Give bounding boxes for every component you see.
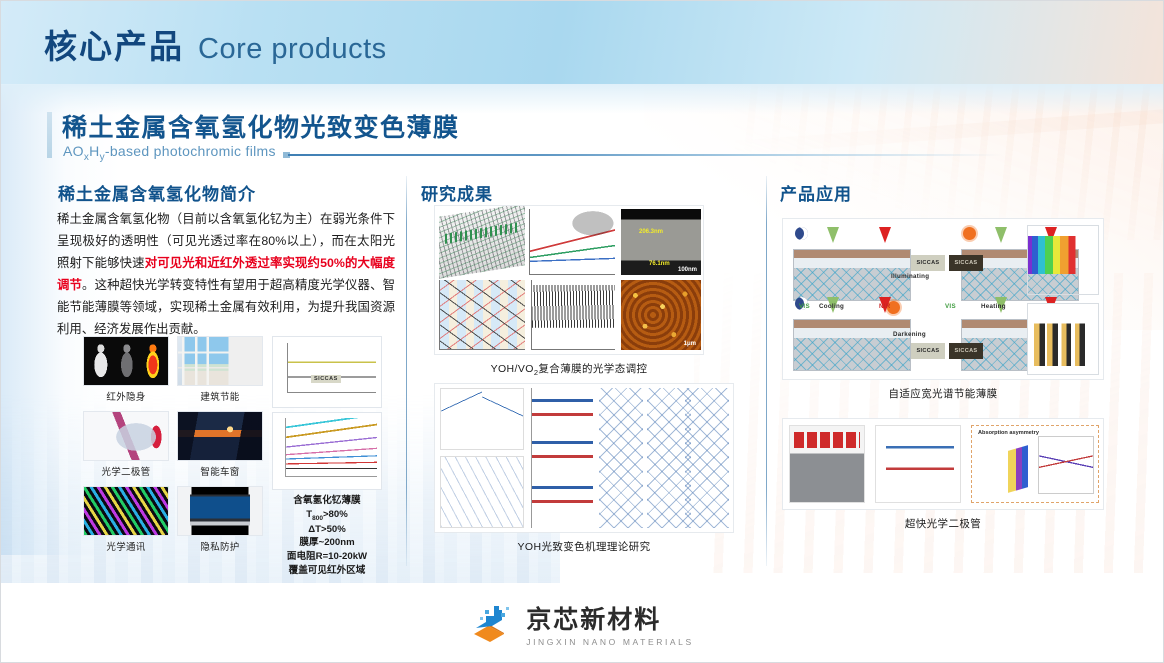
optical-diode-image	[83, 411, 169, 461]
spec-coverage: 覆盖可见红外区域	[272, 564, 382, 578]
research-figure-2-image	[434, 383, 734, 533]
research-figure-1-image: 206.3nm 76.1nm	[434, 205, 704, 355]
right-column-heading: 产品应用	[780, 180, 852, 205]
paragraph-part-2: 。这种超快光学转变特性有望用于超高精度光学仪器、智能节能薄膜等领域，实现稀土金属…	[57, 278, 395, 336]
film-stack-diagram-3	[793, 319, 911, 371]
application-figure-1[interactable]: SICCAS SICCAS SICCAS SICCAS Illuminating…	[782, 218, 1104, 401]
spec-transmittance: T800>80%	[272, 508, 382, 523]
formula-h: H	[89, 143, 99, 159]
application-figure-1-caption: 自适应宽光谱节能薄膜	[782, 380, 1104, 401]
column-divider-left	[406, 176, 407, 566]
research-figure-2[interactable]: YOH光致变色机理理论研究	[434, 383, 734, 554]
hydrogen-diffusion-diagram	[440, 456, 524, 528]
md-snapshot-1	[599, 388, 643, 528]
md-snapshot-3	[685, 388, 729, 528]
section-title-en: AOxHy-based photochromic films	[63, 143, 276, 163]
gallery-item[interactable]: 光学通讯	[83, 486, 169, 559]
green-arrow-down-icon	[995, 227, 1007, 243]
left-column-paragraph: 稀土金属含氧氢化物（目前以含氧氢化钇为主）在弱光条件下呈现极好的透明性（可见光透…	[57, 208, 395, 340]
brand-footer: 京芯新材料 JINGXIN NANO MATERIALS	[0, 600, 1164, 647]
siccas-watermark-label: SICCAS	[311, 375, 341, 383]
research-figure-1[interactable]: 206.3nm 76.1nm YOH/VO2复合薄膜的光学态调控	[434, 205, 704, 377]
brand-name-en: JINGXIN NANO MATERIALS	[526, 637, 694, 647]
brand-text-group: 京芯新材料 JINGXIN NANO MATERIALS	[526, 600, 694, 647]
sun-icon	[963, 227, 976, 240]
gallery-item[interactable]: 隐私防护	[177, 486, 263, 559]
asymmetry-slab-icon	[1008, 445, 1028, 493]
md-energy-traces-plot	[531, 388, 593, 528]
cooling-label: Cooling	[819, 303, 844, 310]
asymmetry-spectrum-chart	[1038, 436, 1094, 494]
cycling-modulation-plot	[439, 280, 525, 350]
header-title-en: Core products	[198, 33, 387, 66]
thickness-series-chart	[272, 412, 382, 490]
header-title-group: 核心产品 Core products	[44, 20, 387, 68]
application-figure-2[interactable]: Absorption asymmetry 超快光学二极管	[782, 418, 1104, 531]
siccas-tile-dark-1: SICCAS	[949, 255, 983, 271]
header-title-cn: 核心产品	[44, 20, 184, 68]
gallery-item-caption: 光学通讯	[83, 536, 169, 559]
gallery-item-caption: 光学二极管	[83, 461, 169, 484]
green-arrow-down-icon	[827, 227, 839, 243]
privacy-screen-image	[177, 486, 263, 536]
spec-t-value: >80%	[323, 509, 348, 520]
gallery-row: 光学二极管 智能车窗	[83, 411, 263, 484]
gallery-row: 光学通讯 隐私防护	[83, 486, 263, 559]
smart-window-image	[177, 411, 263, 461]
gallery-row: 红外隐身 建筑节能	[83, 336, 263, 409]
gallery-item[interactable]: 光学二极管	[83, 411, 169, 484]
illuminating-label: Illuminating	[891, 273, 929, 280]
pump-probe-trace-plot	[875, 425, 961, 503]
left-column-heading: 稀土金属含氧氢化物简介	[58, 180, 256, 205]
red-arrow-down-icon	[879, 227, 891, 243]
sem-thickness-label-2: 76.1nm	[649, 261, 670, 267]
vis-label: VIS	[945, 303, 956, 310]
transmittance-spectrum-chart: SICCAS	[272, 336, 382, 408]
sem-thickness-label-1: 206.3nm	[639, 229, 663, 235]
research-figure-1-caption: YOH/VO2复合薄膜的光学态调控	[434, 355, 704, 377]
siccas-tile-clear-2: SICCAS	[911, 343, 945, 359]
darkening-label: Darkening	[893, 331, 926, 338]
caption-pre: YOH/VO	[491, 363, 534, 375]
heating-label: Heating	[981, 303, 1006, 310]
modulation-bar-chart	[1027, 303, 1099, 375]
application-figure-2-caption: 超快光学二极管	[782, 510, 1104, 531]
formula-a-o: AO	[63, 143, 84, 159]
nir-label: NIR	[879, 303, 891, 310]
repeatability-oscillation-plot	[531, 280, 615, 350]
gallery-item[interactable]: 红外隐身	[83, 336, 169, 409]
section-accent-bar	[47, 112, 52, 158]
optical-setup-photo	[789, 425, 865, 503]
spec-list: 含氧氢化钇薄膜 T800>80% ΔT>50% 膜厚~200nm 面电阻R=10…	[272, 494, 382, 577]
application-gallery: 红外隐身 建筑节能 光学二极管 智能车窗 光学通讯	[83, 336, 263, 561]
solar-spectrum-chart	[1027, 225, 1099, 295]
moon-icon	[795, 227, 808, 240]
application-figure-2-image: Absorption asymmetry	[782, 418, 1104, 510]
middle-column-heading: 研究成果	[421, 180, 493, 205]
sem-cross-section-image: 206.3nm 76.1nm	[621, 209, 701, 275]
absorption-asymmetry-diagram: Absorption asymmetry	[971, 425, 1099, 503]
spec-panel: SICCAS 含氧氢化钇薄膜 T800>80% ΔT>50% 膜厚~200nm …	[272, 336, 382, 577]
siccas-tile-clear-1: SICCAS	[911, 255, 945, 271]
section-rule	[288, 154, 1003, 156]
slide: 核心产品 Core products 稀土金属含氧氢化物光致变色薄膜 AOxHy…	[0, 0, 1164, 663]
research-figure-2-caption: YOH光致变色机理理论研究	[434, 533, 734, 554]
section-title-cn: 稀土金属含氧氢化物光致变色薄膜	[62, 108, 460, 144]
absorption-asymmetry-label: Absorption asymmetry	[978, 430, 1039, 436]
spec-title: 含氧氢化钇薄膜	[272, 494, 382, 508]
energy-gap-panels	[440, 388, 524, 450]
application-figure-1-image: SICCAS SICCAS SICCAS SICCAS Illuminating…	[782, 218, 1104, 380]
spec-sheet-resistance: 面电阻R=10-20kW	[272, 550, 382, 564]
gallery-item-caption: 建筑节能	[177, 386, 263, 409]
slide-header: 核心产品 Core products	[0, 0, 1164, 84]
afm-surface-image	[621, 280, 701, 350]
transmittance-curves-plot	[529, 209, 615, 275]
brand-name-cn: 京芯新材料	[526, 600, 694, 636]
caption-post: 复合薄膜的光学态调控	[538, 363, 647, 375]
gallery-item-caption: 智能车窗	[177, 461, 263, 484]
gallery-item[interactable]: 智能车窗	[177, 411, 263, 484]
siccas-tile-dark-2: SICCAS	[949, 343, 983, 359]
gallery-item-caption: 红外隐身	[83, 386, 169, 409]
crystal-lattice-diagram	[439, 205, 525, 279]
footer-separator	[0, 594, 1164, 595]
gallery-item[interactable]: 建筑节能	[177, 336, 263, 409]
vis-label: VIS	[799, 303, 810, 310]
spec-delta-t: ΔT>50%	[272, 523, 382, 537]
spec-t-subscript: 800	[312, 515, 323, 522]
gallery-item-caption: 隐私防护	[177, 536, 263, 559]
company-logo-icon	[470, 604, 514, 644]
optical-communication-image	[83, 486, 169, 536]
formula-rest: -based photochromic films	[105, 143, 276, 159]
thermal-camouflage-image	[83, 336, 169, 386]
spec-thickness: 膜厚~200nm	[272, 536, 382, 550]
building-energy-image	[177, 336, 263, 386]
column-divider-right	[766, 176, 767, 566]
